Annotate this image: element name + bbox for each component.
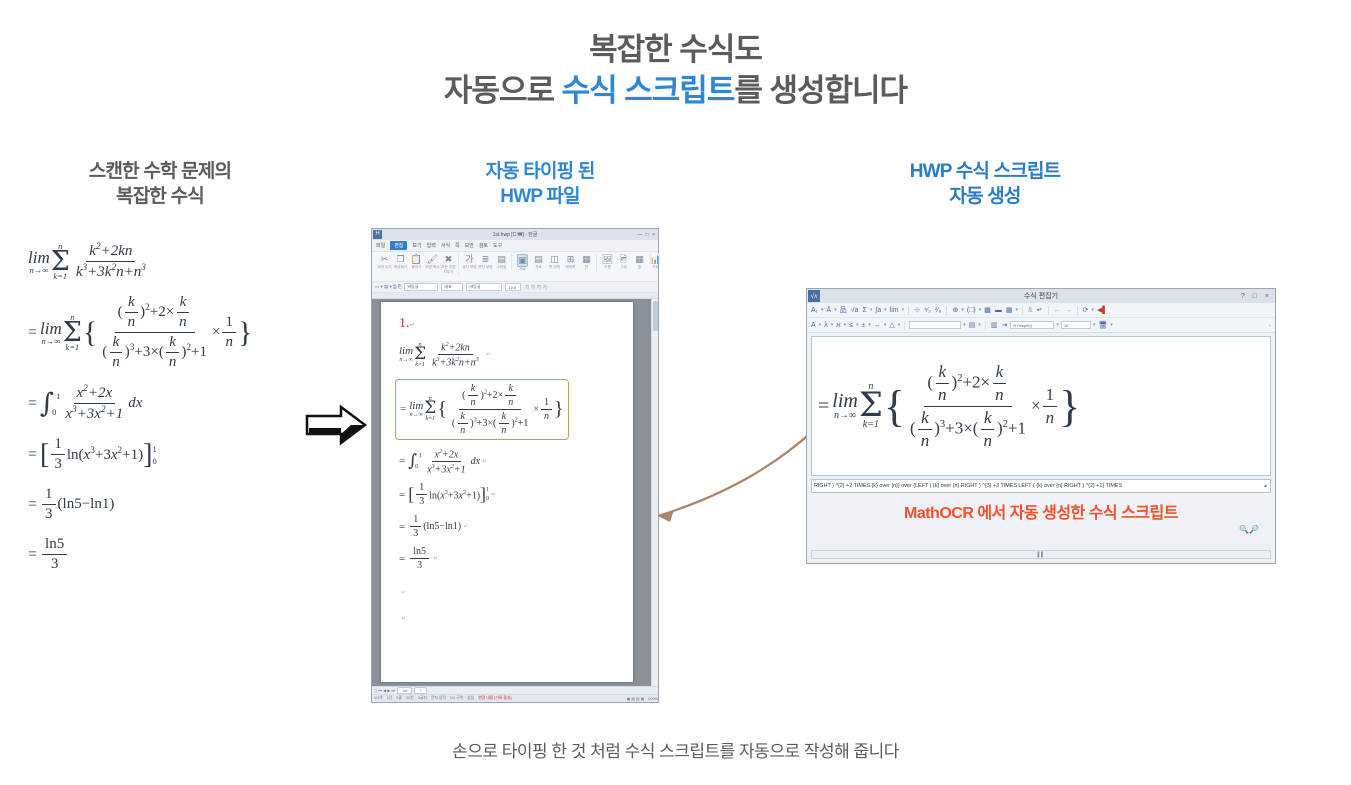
format-copy-label: 모양 복사 (425, 265, 439, 270)
column-title-mid-line1: 자동 타이핑 된 (415, 160, 665, 185)
headline-line-2-post: 를 생성합니다 (734, 73, 907, 108)
hwp-format-bar[interactable]: ▭ ▾ ▤ ▾ ⎙ ⎘ 바탕글 대표 바탕글 10.0 가 가 가 가 (372, 282, 658, 293)
toolbar-separator (1048, 306, 1049, 315)
limit-button[interactable]: lim (889, 307, 900, 314)
char-shape-label: 글자 모양 (462, 265, 476, 270)
relation-button[interactable]: ≤ (848, 322, 854, 329)
spacing-button[interactable]: ⇥ (1001, 321, 1009, 329)
chevron-down-icon[interactable]: ▾ (1015, 307, 1018, 313)
doc-formula-line-5: = 13 (ln5−ln1) ↵ (399, 514, 623, 539)
pilcrow-icon: ↵ (433, 555, 438, 562)
toolbar-group-clipboard: ✂오려 두기 ❐복사하기 📋붙이기 🖌모양 복사 ✖모든 투명 지우기 (375, 254, 459, 275)
cut-label: 오려 두기 (377, 265, 391, 270)
grid-button[interactable]: ▩ (983, 306, 992, 314)
document-formula-body: limn→∞ nΣk=1 k2+2knk3+3k2n+n3 ↵ = limn→∞… (399, 341, 623, 625)
font-name-select[interactable]: HYhwpEQ (1010, 321, 1054, 329)
hwp-menubar[interactable]: 파일 편집 보기 입력 서식 쪽 보안 검토 도구 (372, 240, 658, 252)
columns-label: 단 (585, 265, 588, 270)
newline-button[interactable]: ↵ (1036, 306, 1044, 314)
paste-button[interactable]: 📋붙이기 (409, 254, 424, 275)
annotation-text: MathOCR 에서 자동 생성한 수식 스크립트 (807, 499, 1275, 523)
menu-item-security[interactable]: 보안 (465, 242, 474, 249)
table-label: 표 (638, 265, 641, 270)
status-zoom[interactable]: 200% (648, 697, 658, 701)
hwp-document-canvas[interactable]: 1.↵ limn→∞ nΣk=1 k2+2knk3+3k2n+n3 ↵ = li… (372, 299, 658, 686)
above-script-button[interactable]: ⁴⁄₃ (923, 307, 932, 314)
column-title-left: 스캔한 수학 문제의 복잡한 수식 (10, 160, 310, 209)
zoom-in-icon[interactable]: 🔎 (1249, 525, 1259, 534)
paste-label: 붙이기 (412, 265, 422, 270)
highlighted-formula-box[interactable]: = limn→∞ nΣk=1 { (kn)2+2×kn (kn)3+3×(kn)… (395, 379, 569, 440)
hwp-window-controls[interactable]: — □ × (637, 232, 656, 238)
equation-horizontal-scrollbar[interactable]: ▌▌ (811, 550, 1271, 559)
toolbar-separator (985, 321, 986, 330)
table-button[interactable]: ▦ (1005, 306, 1014, 314)
hwp-titlebar[interactable]: H 1st.hwp [C:₩] - 한글 — □ × (372, 229, 658, 240)
tab-nav-icons[interactable]: ◻ ⏮ ◀ ▶ ⏭ (374, 688, 395, 693)
chart-button[interactable]: 📊차트 (648, 254, 663, 270)
prev-button[interactable]: ← (1053, 307, 1062, 314)
line-button[interactable]: ▬ (994, 307, 1003, 314)
formula-line-2: = limn→∞ nΣk=1 { (kn)2+2×kn (kn)3+3×(kn)… (28, 294, 268, 371)
status-section: 1단 (387, 696, 393, 701)
hwp-vscroll-thumb[interactable] (653, 301, 658, 331)
italic-a-button[interactable]: A (810, 322, 817, 329)
landscape-icon: ▤ (534, 254, 543, 265)
status-area: 1/1 구역 (450, 696, 463, 701)
font-group-combo[interactable]: 대표 (441, 283, 463, 291)
equation-toolbar-row-1[interactable]: A₁▾ Ā▾ 品 √a Σ▾ ∫a▾ lim▾ ⊹ ⁴⁄₃ ²⁄₈ ⊕▾ (□)… (807, 303, 1275, 318)
align-button[interactable]: ▥ (990, 321, 999, 329)
portrait-label: 세로 (519, 267, 526, 272)
chevron-down-icon[interactable]: ▾ (898, 322, 901, 328)
toolbar-group-page: ▣세로 ▤가로 ◫쪽 여백 ⊞바탕쪽 ▦단 (513, 254, 597, 272)
refresh-button[interactable]: ⟳ (1082, 306, 1090, 314)
doc-formula-line-1: limn→∞ nΣk=1 k2+2knk3+3k2n+n3 ↵ (399, 341, 623, 369)
accent-button[interactable]: Ā (826, 307, 833, 314)
fraction-button[interactable]: 品 (839, 305, 848, 315)
text-style-icons[interactable]: 가 가 가 가 (524, 284, 547, 291)
clipboard-icon: 📋 (411, 254, 422, 265)
matrix-button[interactable]: ⊹ (913, 306, 921, 314)
toolbar-overflow-icon[interactable]: ⌄ (1268, 322, 1272, 328)
hwp-toolbar[interactable]: ✂오려 두기 ❐복사하기 📋붙이기 🖌모양 복사 ✖모든 투명 지우기 가글자 … (372, 252, 658, 282)
menu-item-review[interactable]: 검토 (479, 242, 488, 249)
formula-line-4: = [ 13 ln(x3+3x2+1) ] 10 (28, 436, 268, 473)
columns-button[interactable]: ▦단 (579, 254, 594, 272)
table-button[interactable]: ▦표 (632, 254, 647, 270)
toolbar-separator (1077, 306, 1078, 315)
doc-empty-line-1: ↵ (399, 581, 623, 599)
cut-button[interactable]: ✂오려 두기 (377, 254, 392, 275)
pilcrow-icon: ↵ (486, 351, 491, 358)
headline-line-1: 복잡한 수식도 (0, 30, 1351, 71)
hwp-statusbar: 1/1쪽 1단 5줄 22칸 2글자 문자 입력 1/1 구역 삽입 변경 내용… (372, 694, 658, 702)
char-shape-button[interactable]: 가글자 모양 (462, 254, 477, 270)
paragraph-icon: ≣ (482, 254, 490, 265)
chevron-down-icon[interactable]: ▾ (844, 322, 847, 328)
menu-item-edit[interactable]: 편집 (390, 241, 407, 250)
column-title-left-line2: 복잡한 수식 (10, 185, 310, 210)
status-line: 5줄 (396, 696, 402, 701)
equation-editor-title: 수식 편집기 (807, 291, 1275, 301)
toolbar-separator (904, 321, 905, 330)
chevron-down-icon[interactable]: ▾ (868, 322, 871, 328)
column-title-right: HWP 수식 스크립트 자동 생성 (830, 160, 1140, 209)
right-block-arrow-icon (305, 404, 369, 446)
menu-item-tools[interactable]: 도구 (493, 242, 502, 249)
status-page: 1/1쪽 (374, 696, 383, 701)
style-combo[interactable]: 바탕글 (404, 283, 438, 291)
style-button[interactable]: ▤스타일 (494, 254, 509, 270)
bottom-caption: 손으로 타이핑 한 것 처럼 수식 스크립트를 자동으로 작성해 줍니다 (0, 737, 1351, 762)
master-page-label: 바탕쪽 (566, 265, 576, 270)
portrait-icon: ▣ (517, 254, 528, 267)
operator-button[interactable]: ⊕ (951, 306, 959, 314)
chevron-down-icon[interactable]: ▾ (856, 322, 859, 328)
menu-item-view[interactable]: 보기 (412, 242, 421, 249)
copy-icon: ❐ (396, 254, 404, 265)
equation-editor-titlebar[interactable]: √x 수식 편집기 ? □ × (807, 289, 1275, 303)
paragraph-shape-button[interactable]: ≣문단 모양 (478, 254, 493, 270)
hwp-page[interactable]: 1.↵ limn→∞ nΣk=1 k2+2knk3+3k2n+n3 ↵ = li… (381, 302, 633, 682)
hwp-window-title: 1st.hwp [C:₩] - 한글 (372, 231, 658, 238)
toolbar-group-text: 가글자 모양 ≣문단 모양 ▤스타일 (460, 254, 512, 270)
font-name-combo[interactable]: 바탕글 (466, 283, 502, 291)
template-combo[interactable] (909, 321, 961, 329)
pilcrow-icon: ↵ (410, 321, 416, 329)
menu-item-page[interactable]: 쪽 (455, 242, 460, 249)
doc-empty-line-2: ↵ (399, 607, 623, 625)
chevron-down-icon[interactable]: ▾ (870, 307, 873, 313)
table-icon: ▦ (635, 254, 644, 265)
formula-line-1: limn→∞ nΣk=1 k2+2knk3+3k2n+n3 (28, 242, 268, 281)
menu-item-file[interactable]: 파일 (376, 242, 385, 249)
next-button[interactable]: → (1064, 307, 1073, 314)
chevron-down-icon[interactable]: ▾ (819, 322, 822, 328)
below-script-button[interactable]: ²⁄₈ (934, 307, 942, 314)
chevron-down-icon[interactable]: ▾ (1056, 322, 1059, 328)
status-insert: 삽입 (467, 696, 474, 701)
hwp-window[interactable]: H 1st.hwp [C:₩] - 한글 — □ × 파일 편집 보기 입력 서… (371, 228, 659, 703)
char-icon: 가 (465, 254, 473, 265)
bracket-button[interactable]: (□) (966, 307, 977, 314)
hscroll-thumb[interactable]: ▌▌ (1037, 552, 1044, 558)
chart-icon: 📊 (650, 254, 661, 265)
quick-icons: ▭ ▾ ▤ ▾ ⎙ ⎘ (375, 284, 401, 290)
scanned-formula-list: limn→∞ nΣk=1 k2+2knk3+3k2n+n3 = limn→∞ n… (28, 242, 268, 586)
headline-accent: 수식 스크립트 (562, 73, 735, 108)
font-size-select[interactable]: 10 (1061, 321, 1091, 329)
radical-button[interactable]: √a (850, 307, 860, 314)
zoom-controls[interactable]: 🔍🔎 (1239, 525, 1259, 534)
doc-formula-line-6: = ln53 ↵ (399, 546, 623, 571)
font-size-combo[interactable]: 10.0 (505, 283, 521, 291)
toolbar-separator (946, 306, 947, 315)
chevron-down-icon[interactable]: ▾ (821, 307, 824, 313)
scissors-icon: ✂ (381, 254, 389, 265)
style-label: 스타일 (497, 265, 507, 270)
shape-icon: 🖼 (602, 254, 613, 265)
toolbar-group-objects: 🖼도형 🖻그림 ▦표 📊차트 (598, 254, 665, 270)
columns-icon: ▦ (582, 254, 591, 265)
pilcrow-icon: ↵ (401, 590, 406, 596)
status-input-mode: 문자 입력 (431, 696, 446, 701)
hebrew-button[interactable]: א (835, 322, 841, 329)
chevron-down-icon[interactable]: ▾ (963, 322, 966, 328)
plusminus-button[interactable]: ± (860, 322, 866, 329)
headline-line-2: 자동으로 수식 스크립트를 생성합니다 (0, 71, 1351, 112)
doc-formula-line-3: = ∫10 x2+2xx3+3x2+1 dx ↵ (399, 448, 623, 476)
copy-button[interactable]: ❐복사하기 (393, 254, 408, 275)
copy-label: 복사하기 (394, 265, 407, 270)
column-title-right-line1: HWP 수식 스크립트 (830, 160, 1140, 185)
summation-button[interactable]: Σ (861, 307, 867, 314)
format-copy-button[interactable]: 🖌모양 복사 (425, 254, 440, 275)
color-button[interactable]: ▤ (968, 321, 977, 329)
chevron-down-icon[interactable]: ▾ (961, 307, 964, 313)
chevron-down-icon[interactable]: ▾ (884, 322, 887, 328)
equation-toolbar-row-2[interactable]: A▾ λ▾ א▾ ≤▾ ±▾ ↔▾ △▾ ▾ ▤▾ ▥ ⇥ HYhwpEQ▾ 1… (807, 318, 1275, 333)
chevron-down-icon[interactable]: ▾ (831, 322, 834, 328)
insert-close-button[interactable]: ◀▌ (1096, 306, 1108, 314)
chart-label: 차트 (652, 265, 659, 270)
pilcrow-icon: ↵ (482, 458, 487, 465)
column-title-right-line2: 자동 생성 (830, 185, 1140, 210)
callout-connector-line (640, 430, 820, 525)
clear-format-label: 모든 투명 지우기 (441, 265, 456, 275)
column-title-mid-line2: HWP 파일 (415, 185, 665, 210)
integral-button[interactable]: ∫a (874, 307, 882, 314)
pilcrow-icon: ↵ (401, 616, 406, 622)
doc-formula-line-2: = limn→∞ nΣk=1 { (kn)2+2×kn (kn)3+3×(kn)… (400, 383, 564, 436)
chevron-down-icon[interactable]: ▾ (834, 307, 837, 313)
shape-button[interactable]: 🖼도형 (600, 254, 615, 270)
page-title: 복잡한 수식도 자동으로 수식 스크립트를 생성합니다 (0, 30, 1351, 112)
ampersand-button[interactable]: & (1027, 307, 1034, 314)
margin-icon: ◫ (550, 254, 559, 265)
status-char: 2글자 (418, 696, 427, 701)
zoom-out-icon[interactable]: 🔍 (1239, 525, 1249, 534)
equation-preview-canvas[interactable]: = limn→∞ nΣk=1 { (kn)2+2×kn (kn)3+3×(kn)… (811, 336, 1271, 476)
toolbar-separator (1022, 306, 1023, 315)
clear-format-button[interactable]: ✖모든 투명 지우기 (441, 254, 456, 275)
page-margin-label: 쪽 여백 (549, 265, 560, 270)
landscape-label: 가로 (535, 265, 542, 270)
script-scroll-up-icon[interactable]: ▲ (1263, 483, 1268, 489)
picture-label: 그림 (620, 265, 627, 270)
menu-item-insert[interactable]: 입력 (427, 242, 436, 249)
formula-line-6: = ln53 (28, 536, 268, 573)
status-column: 22칸 (406, 696, 414, 701)
chevron-down-icon[interactable]: ▾ (884, 307, 887, 313)
pilcrow-icon: ↵ (491, 491, 496, 498)
document-problem-number: 1.↵ (399, 316, 623, 332)
view-mode-icons[interactable]: ▣ ▤ ▥ ▦ (627, 696, 645, 701)
equation-script-text: RIGHT ) ^{2} +2 TIMES {k} over {n}} over… (814, 483, 1122, 489)
doc-formula-line-4: = [ 13 ln(x3+3x2+1) ] 10 ↵ (399, 482, 623, 507)
greek-button[interactable]: λ (823, 322, 829, 329)
headline-line-2-pre: 자동으로 (444, 73, 562, 108)
landscape-button[interactable]: ▤가로 (531, 254, 546, 272)
add-tab-button[interactable]: + (414, 687, 426, 694)
pilcrow-icon: ↵ (463, 523, 468, 530)
portrait-button[interactable]: ▣세로 (515, 254, 530, 272)
symbol-button[interactable]: △ (888, 321, 895, 329)
chevron-down-icon[interactable]: ▾ (978, 322, 981, 328)
equation-editor-window-controls[interactable]: ? □ × (1241, 293, 1272, 300)
eraser-icon: ✖ (445, 254, 453, 265)
brush-icon: 🖌 (427, 254, 438, 265)
page-margin-button[interactable]: ◫쪽 여백 (547, 254, 562, 272)
column-title-left-line1: 스캔한 수학 문제의 (10, 160, 310, 185)
subscript-button[interactable]: A₁ (810, 307, 819, 314)
picture-button[interactable]: 🖻그림 (616, 254, 631, 270)
formula-line-3: = ∫10 x2+2xx3+3x2+1 dx (28, 384, 268, 423)
chevron-down-icon[interactable]: ▾ (1093, 322, 1096, 328)
master-page-icon: ⊞ (567, 254, 575, 265)
chevron-down-icon[interactable]: ▾ (1091, 307, 1094, 313)
document-tab[interactable]: 1st (397, 687, 412, 694)
status-change-tracking: 변경 내용 [기록 중지] (478, 696, 511, 701)
menu-item-format[interactable]: 서식 (441, 242, 450, 249)
formula-line-5: = 13 (ln5−ln1) (28, 486, 268, 523)
chevron-down-icon[interactable]: ▾ (979, 307, 982, 313)
style-icon: ▤ (497, 254, 506, 265)
picture-icon: 🖻 (620, 254, 627, 265)
screen-button[interactable]: 🖥 (1097, 321, 1108, 329)
column-title-mid: 자동 타이핑 된 HWP 파일 (415, 160, 665, 209)
chevron-down-icon[interactable]: ▾ (902, 307, 905, 313)
toolbar-separator (908, 306, 909, 315)
chevron-down-icon[interactable]: ▾ (1110, 322, 1113, 328)
master-page-button[interactable]: ⊞바탕쪽 (563, 254, 578, 272)
hwp-tabbar[interactable]: ◻ ⏮ ◀ ▶ ⏭ 1st + (372, 686, 658, 694)
equation-editor-window[interactable]: √x 수식 편집기 ? □ × A₁▾ Ā▾ 品 √a Σ▾ ∫a▾ lim▾ … (806, 288, 1276, 564)
arrow-button[interactable]: ↔ (873, 322, 882, 329)
equation-script-field[interactable]: RIGHT ) ^{2} +2 TIMES {k} over {n}} over… (811, 479, 1271, 493)
paragraph-shape-label: 문단 모양 (478, 265, 492, 270)
shape-label: 도형 (604, 265, 611, 270)
